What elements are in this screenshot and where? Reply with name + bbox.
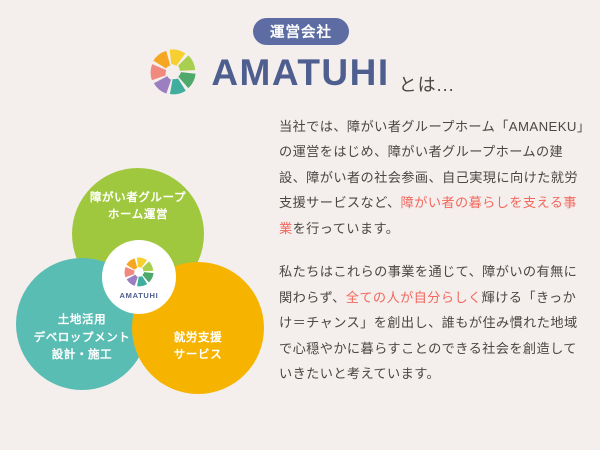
- slide-canvas: 運営会社: [0, 0, 600, 450]
- venn-label-line: デベロップメント: [34, 332, 131, 344]
- venn-circle-land-development-label: 土地活用 デベロップメント 設計・施工: [34, 312, 131, 364]
- venn-label-line: ホーム運営: [108, 209, 168, 221]
- venn-label-line: 障がい者グループ: [90, 192, 186, 204]
- description-paragraph-2: 私たちはこれらの事業を通じて、障がいの有無に関わらず、全ての人が自分らしく輝ける…: [279, 259, 589, 386]
- brand-name: AMATUHI: [211, 54, 389, 91]
- venn-circle-group-home-label: 障がい者グループ ホーム運営: [90, 190, 186, 225]
- brand-name-suffix: とは...: [399, 71, 455, 100]
- description-paragraph-1: 当社では、障がい者グループホーム「AMANEKU」の運営をはじめ、障がい者グルー…: [279, 114, 589, 241]
- venn-label-line: 就労支援: [174, 332, 222, 344]
- amatuhi-pinwheel-logo-icon: [121, 254, 157, 290]
- venn-label-line: 土地活用: [58, 314, 106, 326]
- paragraph-1-segment-2: を行っています。: [293, 221, 400, 236]
- venn-center-logo-badge: AMATUHI: [102, 240, 176, 314]
- business-venn-diagram: 障がい者グループ ホーム運営 土地活用 デベロップメント 設計・施工 就労支援 …: [10, 168, 275, 393]
- amatuhi-pinwheel-logo-icon: [145, 44, 201, 100]
- header-section: 運営会社: [0, 0, 600, 105]
- paragraph-2-highlight: 全ての人が自分らしく: [346, 290, 482, 305]
- venn-circle-employment-support-label: 就労支援 サービス: [174, 330, 222, 365]
- venn-label-line: サービス: [174, 349, 222, 361]
- title-row: AMATUHI とは...: [0, 44, 600, 100]
- description-text-block: 当社では、障がい者グループホーム「AMANEKU」の運営をはじめ、障がい者グルー…: [279, 114, 589, 387]
- venn-center-brand-label: AMATUHI: [120, 291, 159, 300]
- venn-label-line: 設計・施工: [52, 349, 113, 361]
- section-badge: 運営会社: [253, 18, 349, 45]
